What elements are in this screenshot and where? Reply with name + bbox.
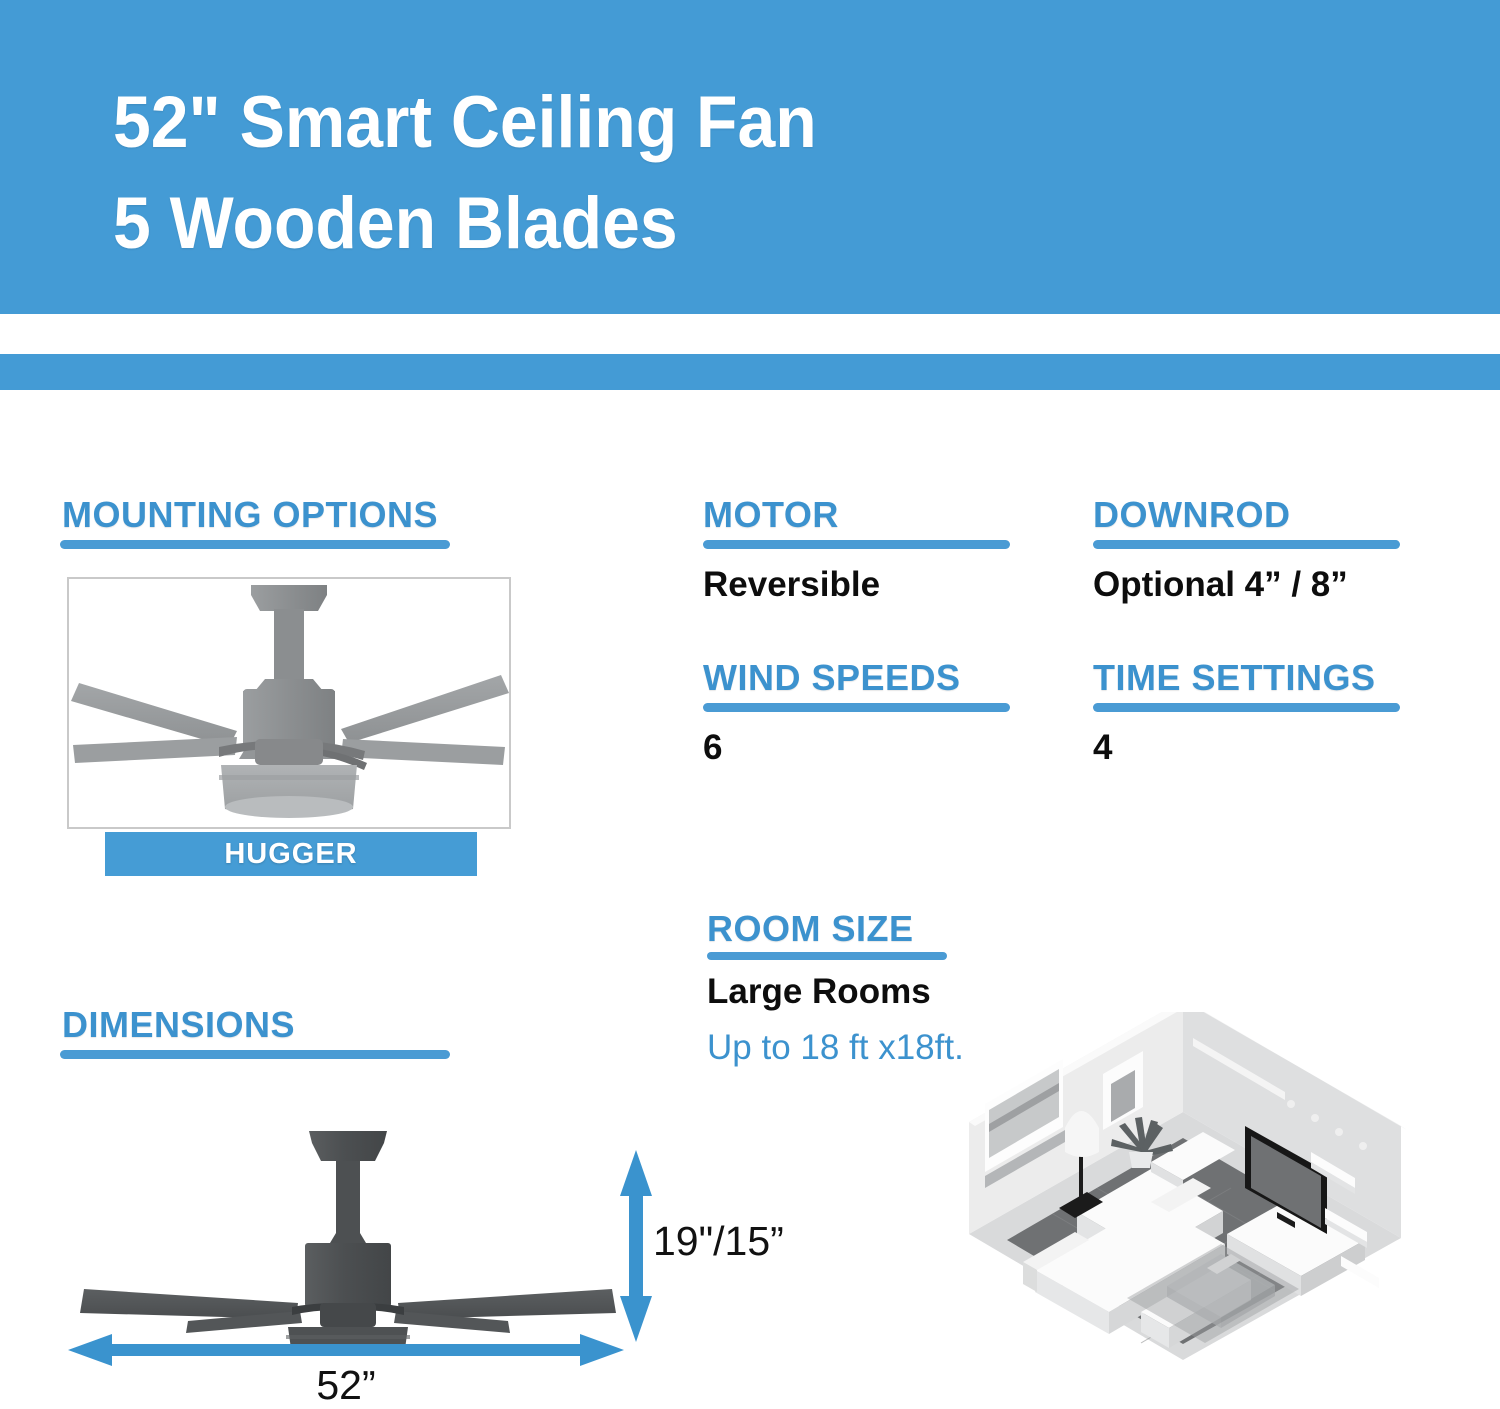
spec-wind-speeds-rule <box>703 703 1010 712</box>
room-illustration <box>955 1012 1410 1360</box>
dimensions-heading: DIMENSIONS <box>62 1004 295 1046</box>
room-size-subtext: Up to 18 ft x18ft. <box>707 1028 964 1068</box>
room-size-heading: ROOM SIZE <box>707 908 914 950</box>
mounting-options-heading: MOUNTING OPTIONS <box>62 494 438 536</box>
spec-motor-heading: MOTOR <box>703 494 839 536</box>
mounting-options-rule <box>60 540 450 549</box>
hugger-option-bar: HUGGER <box>105 832 477 876</box>
mounting-figure <box>67 577 511 829</box>
spec-time-settings-rule <box>1093 703 1400 712</box>
spec-downrod-value: Optional 4” / 8” <box>1093 565 1348 605</box>
spec-motor-value: Reversible <box>703 565 880 605</box>
spec-motor-rule <box>703 540 1010 549</box>
spec-downrod-heading: DOWNROD <box>1093 494 1290 536</box>
ceiling-fan-hugger-icon <box>69 579 509 827</box>
room-size-rule <box>707 952 947 960</box>
height-dimension-label: 19"/15” <box>653 1218 784 1265</box>
dimensions-figure <box>60 1125 640 1355</box>
isometric-living-room-icon <box>955 1012 1410 1360</box>
divider-band <box>0 354 1500 390</box>
spec-wind-speeds-value: 6 <box>703 728 722 768</box>
dimensions-rule <box>60 1050 450 1059</box>
page-title: 52" Smart Ceiling Fan 5 Wooden Blades <box>113 72 1229 274</box>
spec-time-settings-value: 4 <box>1093 728 1112 768</box>
title-line-2: 5 Wooden Blades <box>113 173 1229 274</box>
spec-downrod-rule <box>1093 540 1400 549</box>
room-size-value: Large Rooms <box>707 972 931 1012</box>
spec-time-settings-heading: TIME SETTINGS <box>1093 657 1376 699</box>
width-dimension-label: 52” <box>68 1362 624 1409</box>
spec-wind-speeds-heading: WIND SPEEDS <box>703 657 961 699</box>
hugger-option-label: HUGGER <box>105 832 477 876</box>
ceiling-fan-profile-icon <box>60 1125 640 1355</box>
title-line-1: 52" Smart Ceiling Fan <box>113 72 1229 173</box>
